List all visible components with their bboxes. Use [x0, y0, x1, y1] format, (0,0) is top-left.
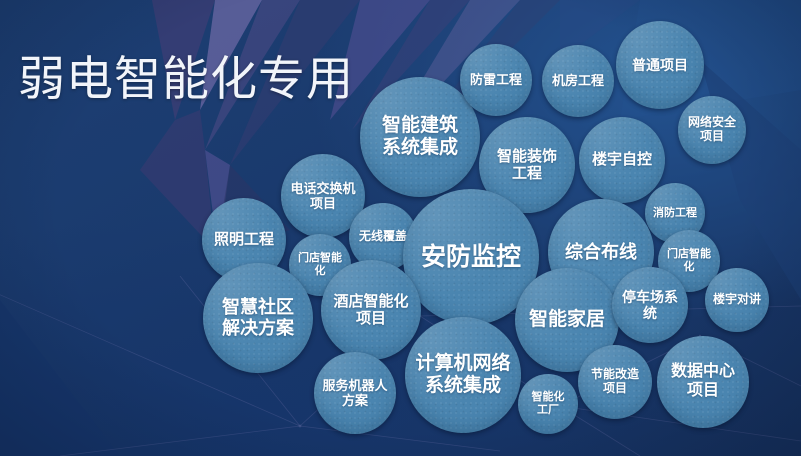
- bubble-item[interactable]: 普通项目: [616, 21, 704, 109]
- bubble-label: 楼宇自控: [592, 151, 652, 168]
- bubble-label: 停车场系统: [622, 289, 678, 321]
- bubble-label: 智能家居: [529, 309, 605, 331]
- page-title: 弱电智能化专用: [18, 55, 354, 102]
- bubble-label: 电话交换机项目: [290, 181, 355, 211]
- bubble-item[interactable]: 防雷工程: [460, 44, 532, 116]
- bubble-item[interactable]: 智能建筑系统集成: [360, 77, 480, 197]
- bubble-label: 普通项目: [632, 57, 688, 73]
- bubble-label: 节能改造项目: [591, 368, 639, 396]
- bubble-label: 服务机器人方案: [322, 378, 387, 408]
- bubble-item[interactable]: 计算机网络系统集成: [405, 317, 521, 433]
- bubble-label: 酒店智能化项目: [333, 293, 408, 328]
- bubble-item[interactable]: 节能改造项目: [578, 345, 652, 419]
- bubble-label: 无线覆盖: [359, 230, 407, 244]
- bubble-label: 综合布线: [565, 242, 637, 263]
- bubble-label: 智能建筑系统集成: [382, 115, 458, 159]
- bubble-item[interactable]: 智能化工厂: [518, 374, 578, 434]
- bubble-label: 楼宇对讲: [713, 293, 761, 307]
- bubble-label: 机房工程: [552, 73, 604, 88]
- bubble-item[interactable]: 数据中心项目: [657, 336, 749, 428]
- bubble-item[interactable]: 楼宇对讲: [705, 268, 769, 332]
- slide-canvas: 弱电智能化专用 智能建筑系统集成防雷工程机房工程普通项目网络安全项目智能装饰工程…: [0, 0, 801, 456]
- bubble-label: 网络安全项目: [688, 116, 736, 144]
- bubble-item[interactable]: 服务机器人方案: [314, 352, 396, 434]
- bubble-item[interactable]: 智慧社区解决方案: [203, 263, 313, 373]
- bubble-label: 门店智能化: [667, 248, 711, 274]
- bubble-label: 计算机网络系统集成: [415, 353, 510, 397]
- bubble-item[interactable]: 停车场系统: [612, 267, 688, 343]
- bubble-label: 防雷工程: [470, 72, 522, 87]
- bubble-label: 智能装饰工程: [497, 148, 557, 183]
- bubble-item[interactable]: 楼宇自控: [579, 117, 665, 203]
- bubble-item[interactable]: 酒店智能化项目: [321, 260, 421, 360]
- bubble-label: 安防监控: [421, 243, 521, 272]
- bubble-item[interactable]: 网络安全项目: [678, 96, 746, 164]
- bubble-label: 智慧社区解决方案: [222, 297, 294, 339]
- bubble-label: 消防工程: [653, 207, 697, 220]
- bubble-item[interactable]: 机房工程: [542, 45, 614, 117]
- bubble-label: 数据中心项目: [671, 363, 735, 400]
- bubble-label: 智能化工厂: [532, 391, 565, 417]
- bubble-label: 照明工程: [214, 231, 274, 248]
